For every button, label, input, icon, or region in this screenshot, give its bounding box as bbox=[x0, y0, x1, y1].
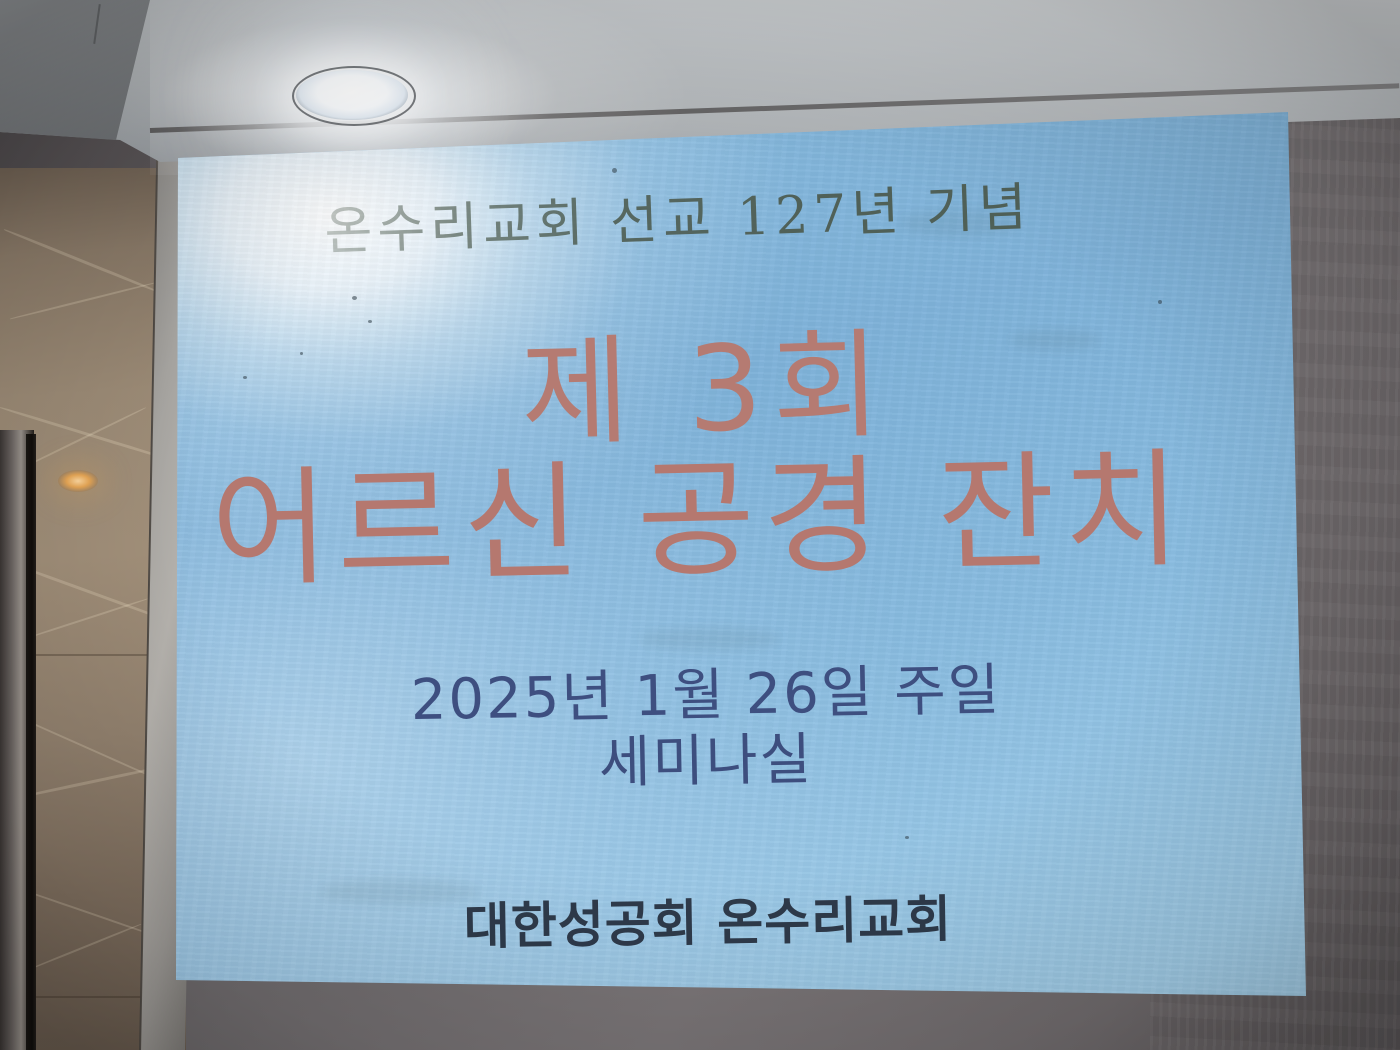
photo-scene: 온수리교회 선교 127년 기념 제 3회 어르신 공경 잔치 2025년 1월… bbox=[0, 0, 1400, 1050]
projected-slide-screen bbox=[0, 0, 1400, 1050]
door-frame-shadow bbox=[26, 434, 36, 1050]
wall-light-reflection bbox=[58, 470, 98, 492]
downlight-rim bbox=[292, 66, 416, 126]
